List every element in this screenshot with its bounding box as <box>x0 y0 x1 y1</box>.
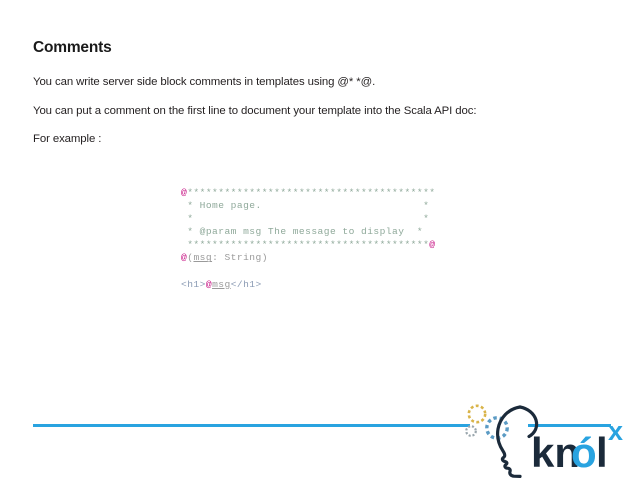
code-token-comment: *************************************** <box>181 239 429 250</box>
body-paragraph-2: You can put a comment on the first line … <box>33 105 476 117</box>
slide-canvas: Comments You can write server side block… <box>0 0 638 479</box>
code-token-comment: * * <box>181 213 429 224</box>
code-line: <h1>@msg</h1> <box>181 278 436 291</box>
code-token-plain: : String) <box>212 252 268 263</box>
page-title: Comments <box>33 39 112 57</box>
code-token-comment: * Home page. * <box>181 200 429 211</box>
code-token-at: @ <box>429 239 435 250</box>
code-token-ident: msg <box>193 252 212 263</box>
code-line: @(msg: String) <box>181 251 436 264</box>
code-sample: @***************************************… <box>181 186 436 291</box>
code-token-comment: **************************************** <box>187 187 435 198</box>
logo-superscript-x: x <box>608 416 623 446</box>
code-token-tag: </h1> <box>231 279 262 290</box>
code-line: * * <box>181 212 436 225</box>
footer-divider-left <box>33 424 470 427</box>
knolx-logo: kn ó l x <box>458 402 638 479</box>
body-paragraph-1: You can write server side block comments… <box>33 76 375 88</box>
code-line: * @param msg The message to display * <box>181 225 436 238</box>
logo-wordmark-suffix: l <box>596 429 608 476</box>
logo-wordmark-accent: ó <box>571 429 597 476</box>
code-line <box>181 265 436 278</box>
code-line: ***************************************@ <box>181 238 436 251</box>
code-line: @***************************************… <box>181 186 436 199</box>
gear-gray-icon <box>466 426 476 436</box>
gear-gold-icon <box>469 406 485 422</box>
code-token-ident: msg <box>212 279 231 290</box>
code-line: * Home page. * <box>181 199 436 212</box>
code-token-comment: * @param msg The message to display * <box>181 226 423 237</box>
body-paragraph-3: For example : <box>33 133 101 145</box>
code-token-tag: <h1> <box>181 279 206 290</box>
